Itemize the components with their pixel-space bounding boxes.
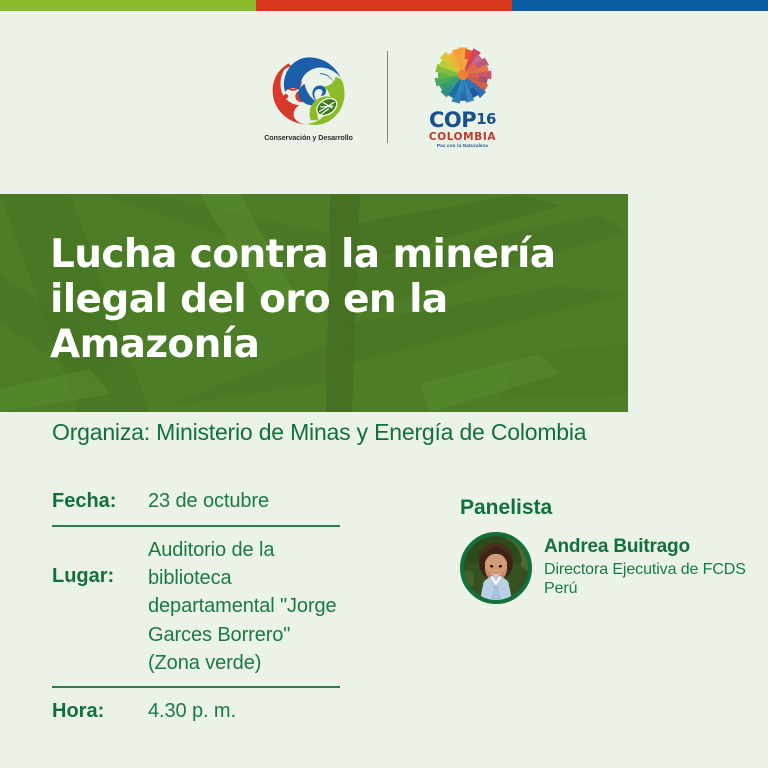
panelist-name: Andrea Buitrago [544, 536, 760, 558]
panelist-photo [464, 536, 528, 600]
panelist-section: Panelista [460, 496, 760, 604]
detail-row-lugar: Lugar: Auditorio de la biblioteca depart… [52, 536, 342, 678]
top-bar-segment-green [0, 0, 256, 11]
detail-row-hora: Hora: 4.30 p. m. [52, 697, 342, 726]
detail-row-fecha: Fecha: 23 de octubre [52, 487, 342, 516]
detail-label-lugar: Lugar: [52, 536, 148, 591]
organizer-line: Organiza: Ministerio de Minas y Energía … [52, 419, 586, 446]
detail-divider-1 [52, 525, 340, 527]
event-title: Lucha contra la minería ilegal del oro e… [50, 232, 610, 368]
top-bar-segment-red [256, 0, 512, 11]
conservacion-desarrollo-caption: Conservación y Desarrollo [264, 133, 353, 142]
event-details: Fecha: 23 de octubre Lugar: Auditorio de… [52, 487, 342, 726]
detail-value-fecha: 23 de octubre [148, 487, 269, 515]
panelist-card: Andrea Buitrago Directora Ejecutiva de F… [460, 532, 760, 604]
detail-label-hora: Hora: [52, 697, 148, 726]
cop16-wordmark: COP16 COLOMBIA Paz con la Naturaleza [429, 110, 496, 149]
conservacion-desarrollo-logo: Conservación y Desarrollo [253, 52, 365, 142]
top-color-bar [0, 0, 768, 11]
panelist-text: Andrea Buitrago Directora Ejecutiva de F… [544, 532, 760, 598]
cop16-country: COLOMBIA [429, 131, 496, 143]
cop16-tagline: Paz con la Naturaleza [437, 143, 488, 149]
cop16-title: COP16 [429, 110, 496, 131]
cop16-logo: COP16 COLOMBIA Paz con la Naturaleza [410, 44, 516, 149]
detail-divider-2 [52, 686, 340, 688]
cop16-flower-icon [419, 44, 507, 106]
logo-separator [387, 51, 388, 143]
title-banner: Lucha contra la minería ilegal del oro e… [0, 194, 628, 412]
avatar [460, 532, 532, 604]
detail-label-fecha: Fecha: [52, 487, 148, 516]
panelist-role: Directora Ejecutiva de FCDS Perú [544, 560, 760, 598]
top-bar-segment-blue [512, 0, 768, 11]
conservacion-desarrollo-icon [263, 52, 355, 130]
panelist-heading: Panelista [460, 496, 760, 520]
detail-value-hora: 4.30 p. m. [148, 697, 236, 725]
detail-value-lugar: Auditorio de la biblioteca departamental… [148, 536, 342, 678]
logo-row: Conservación y Desarrollo [0, 11, 768, 183]
